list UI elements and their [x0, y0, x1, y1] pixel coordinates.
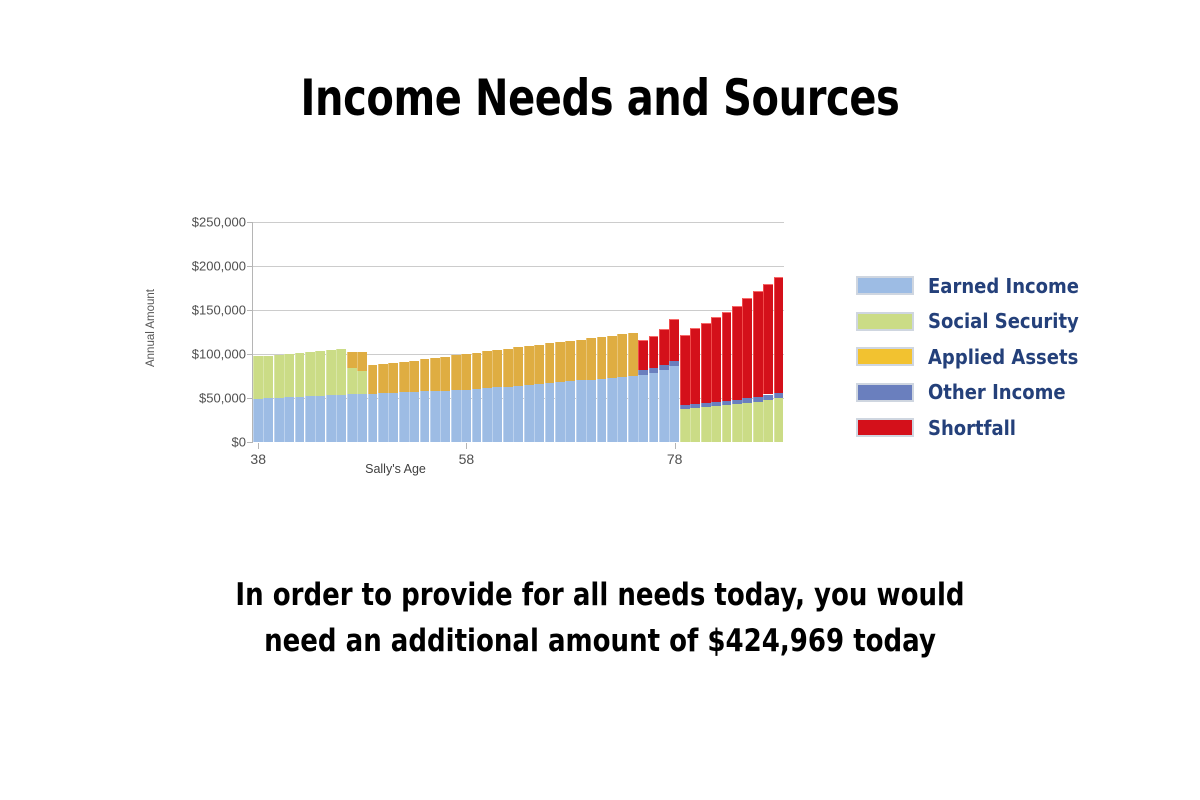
bar-segment — [701, 323, 711, 403]
bar — [586, 222, 596, 442]
bar — [399, 222, 409, 442]
bar-segment — [763, 400, 773, 442]
page-title: Income Needs and Sources — [120, 68, 1080, 128]
legend-item[interactable]: Social Security — [856, 304, 1156, 340]
bar-segment — [305, 352, 315, 396]
legend-label: Social Security — [928, 309, 1079, 333]
bar-segment — [701, 403, 711, 407]
bar-segment — [326, 350, 336, 396]
bar-segment — [732, 306, 742, 400]
bar-segment — [440, 391, 450, 442]
bar — [513, 222, 523, 442]
bar-segment — [711, 406, 721, 442]
bar-segment — [347, 368, 357, 394]
bar-segment — [753, 397, 763, 402]
y-tick-label: $250,000 — [192, 215, 246, 230]
bar-segment — [513, 347, 523, 385]
bar — [430, 222, 440, 442]
bar-segment — [576, 380, 586, 442]
bar-segment — [492, 387, 502, 442]
bar — [451, 222, 461, 442]
legend-label: Applied Assets — [928, 345, 1078, 369]
bar — [597, 222, 607, 442]
bar-segment — [774, 398, 784, 442]
bar-segment — [357, 371, 367, 394]
bar-segment — [253, 356, 263, 399]
bar — [315, 222, 325, 442]
bar — [701, 222, 711, 442]
bar — [711, 222, 721, 442]
bar-segment — [274, 355, 284, 398]
bar-segment — [534, 345, 544, 384]
y-tick-label: $100,000 — [192, 347, 246, 362]
bar — [534, 222, 544, 442]
legend-item[interactable]: Applied Assets — [856, 339, 1156, 375]
bar — [607, 222, 617, 442]
bar — [274, 222, 284, 442]
bar-segment — [315, 396, 325, 442]
bar-segment — [451, 355, 461, 390]
bar-segment — [378, 364, 388, 393]
bar-segment — [482, 388, 492, 442]
bar-segment — [305, 396, 315, 442]
bar-segment — [763, 284, 773, 395]
bar-segment — [555, 342, 565, 382]
bar-segment — [263, 356, 273, 398]
bar-segment — [492, 350, 502, 387]
legend-item[interactable]: Other Income — [856, 375, 1156, 411]
bar-segment — [659, 329, 669, 364]
bar — [628, 222, 638, 442]
bar-segment — [388, 393, 398, 442]
bar-segment — [628, 333, 638, 376]
bar-segment — [326, 395, 336, 442]
bar — [284, 222, 294, 442]
bar-segment — [701, 407, 711, 442]
bar-segment — [399, 392, 409, 442]
bar-segment — [284, 397, 294, 442]
bar — [659, 222, 669, 442]
bar-segment — [732, 400, 742, 404]
chart-container: Annual Amount $0$50,000$100,000$150,000$… — [130, 200, 830, 505]
bar-segment — [409, 361, 419, 392]
bar-segment — [503, 349, 513, 387]
x-tick-mark — [675, 443, 676, 449]
chart-legend: Earned IncomeSocial Security Applied Ass… — [856, 268, 1156, 446]
bar — [722, 222, 732, 442]
bar-segment — [659, 365, 669, 370]
bar-segment — [565, 341, 575, 381]
legend-swatch-icon — [856, 383, 914, 402]
bar-segment — [607, 378, 617, 442]
legend-label: Other Income — [928, 380, 1066, 404]
bar-segment — [763, 395, 773, 400]
bar — [347, 222, 357, 442]
bar — [732, 222, 742, 442]
plot-area: $0$50,000$100,000$150,000$200,000$250,00… — [253, 222, 784, 442]
bar-segment — [586, 338, 596, 379]
bar-segment — [597, 337, 607, 379]
y-tick-label: $150,000 — [192, 303, 246, 318]
bar-segment — [357, 394, 367, 442]
bar-segment — [711, 402, 721, 406]
bar-segment — [451, 390, 461, 442]
legend-item[interactable]: Shortfall — [856, 410, 1156, 446]
bar — [545, 222, 555, 442]
bar-segment — [472, 353, 482, 390]
bar-segment — [378, 393, 388, 442]
bar-segment — [253, 399, 263, 442]
bar — [669, 222, 679, 442]
x-tick-label: 78 — [667, 451, 683, 467]
bar-segment — [336, 349, 346, 395]
bar — [492, 222, 502, 442]
bar-segment — [545, 343, 555, 383]
caption: In order to provide for all needs today,… — [0, 572, 1200, 664]
legend-swatch-icon — [856, 418, 914, 437]
bar — [774, 222, 784, 442]
bar — [565, 222, 575, 442]
y-tick-mark — [247, 442, 253, 443]
bar — [555, 222, 565, 442]
bar — [742, 222, 752, 442]
bar-segment — [482, 351, 492, 388]
x-tick-mark — [258, 443, 259, 449]
x-axis-title: Sally's Age — [130, 462, 661, 476]
bar-segment — [284, 354, 294, 397]
bar-segment — [295, 353, 305, 397]
bar-segment — [690, 328, 700, 404]
bar-segment — [649, 368, 659, 373]
bar-segment — [669, 319, 679, 361]
bar-segment — [732, 404, 742, 442]
bar — [524, 222, 534, 442]
bar — [409, 222, 419, 442]
bar-segment — [753, 291, 763, 397]
bar — [690, 222, 700, 442]
bar — [378, 222, 388, 442]
bar-segment — [690, 408, 700, 442]
bar-segment — [440, 357, 450, 391]
bar-segment — [690, 404, 700, 408]
bar — [440, 222, 450, 442]
bar — [638, 222, 648, 442]
bar-segment — [649, 336, 659, 369]
y-tick-label: $50,000 — [199, 391, 246, 406]
bar-segment — [368, 394, 378, 442]
bar-segment — [399, 362, 409, 392]
legend-swatch-icon — [856, 312, 914, 331]
bar-segment — [388, 363, 398, 393]
bar — [357, 222, 367, 442]
bar-segment — [586, 380, 596, 442]
bar-segment — [430, 391, 440, 442]
slide-canvas: Income Needs and Sources Annual Amount $… — [0, 0, 1200, 800]
bar — [388, 222, 398, 442]
legend-label: Earned Income — [928, 274, 1079, 298]
bar-segment — [638, 340, 648, 370]
bar — [420, 222, 430, 442]
bar-segment — [774, 393, 784, 398]
bar-segment — [347, 352, 357, 368]
bar — [461, 222, 471, 442]
bar-segment — [347, 394, 357, 442]
bar-segment — [680, 405, 690, 409]
y-axis-title: Annual Amount — [145, 263, 157, 393]
bar-segment — [576, 340, 586, 381]
bar — [263, 222, 273, 442]
y-tick-label: $0 — [232, 435, 246, 450]
bar-segment — [680, 409, 690, 442]
bar-segment — [659, 370, 669, 442]
bar-segment — [430, 358, 440, 391]
bar-segment — [368, 365, 378, 394]
legend-swatch-icon — [856, 347, 914, 366]
bar-segment — [680, 335, 690, 405]
legend-swatch-icon — [856, 276, 914, 295]
bar-segment — [742, 398, 752, 403]
bar-segment — [263, 398, 273, 442]
bar-segment — [472, 389, 482, 442]
bar-segment — [742, 403, 752, 442]
bar-segment — [295, 397, 305, 442]
bar — [368, 222, 378, 442]
bar-segment — [617, 377, 627, 442]
legend-label: Shortfall — [928, 416, 1016, 440]
bar-segment — [565, 381, 575, 442]
bar — [649, 222, 659, 442]
bar — [617, 222, 627, 442]
bar — [753, 222, 763, 442]
legend-item[interactable]: Earned Income — [856, 268, 1156, 304]
bar — [680, 222, 690, 442]
bar — [472, 222, 482, 442]
bar — [336, 222, 346, 442]
bar-segment — [722, 401, 732, 405]
bar-segment — [513, 386, 523, 442]
bar-segment — [545, 383, 555, 442]
bar-segment — [420, 359, 430, 391]
bar-segment — [669, 361, 679, 366]
bar-segment — [669, 366, 679, 442]
bar — [763, 222, 773, 442]
bar — [305, 222, 315, 442]
bar-segment — [722, 405, 732, 442]
bar — [482, 222, 492, 442]
bar-segment — [597, 379, 607, 442]
bar — [576, 222, 586, 442]
bar — [503, 222, 513, 442]
bar-segment — [503, 387, 513, 442]
bar-segment — [628, 376, 638, 442]
bar-segment — [753, 402, 763, 442]
bar-segment — [774, 277, 784, 393]
bar-segment — [274, 398, 284, 442]
bar-segment — [336, 395, 346, 442]
bar-segment — [722, 312, 732, 401]
bar — [326, 222, 336, 442]
x-tick-mark — [466, 443, 467, 449]
bar-segment — [638, 375, 648, 442]
bar-segment — [409, 392, 419, 442]
bar-segment — [420, 391, 430, 442]
caption-line-2: need an additional amount of $424,969 to… — [96, 618, 1104, 664]
bar-segment — [461, 354, 471, 390]
bar-segment — [638, 370, 648, 375]
y-tick-label: $200,000 — [192, 259, 246, 274]
bar-segment — [742, 298, 752, 398]
bar-segment — [555, 382, 565, 442]
bar — [253, 222, 263, 442]
bar-segment — [461, 390, 471, 442]
bar-segment — [357, 352, 367, 371]
bar-segment — [607, 336, 617, 378]
bar-segment — [524, 385, 534, 442]
bar-segment — [649, 373, 659, 442]
caption-line-1: In order to provide for all needs today,… — [96, 572, 1104, 618]
bar-segment — [617, 334, 627, 377]
bar-segment — [315, 351, 325, 396]
bar-segment — [534, 384, 544, 442]
bar — [295, 222, 305, 442]
bar-segment — [524, 346, 534, 385]
bar-segment — [711, 317, 721, 401]
